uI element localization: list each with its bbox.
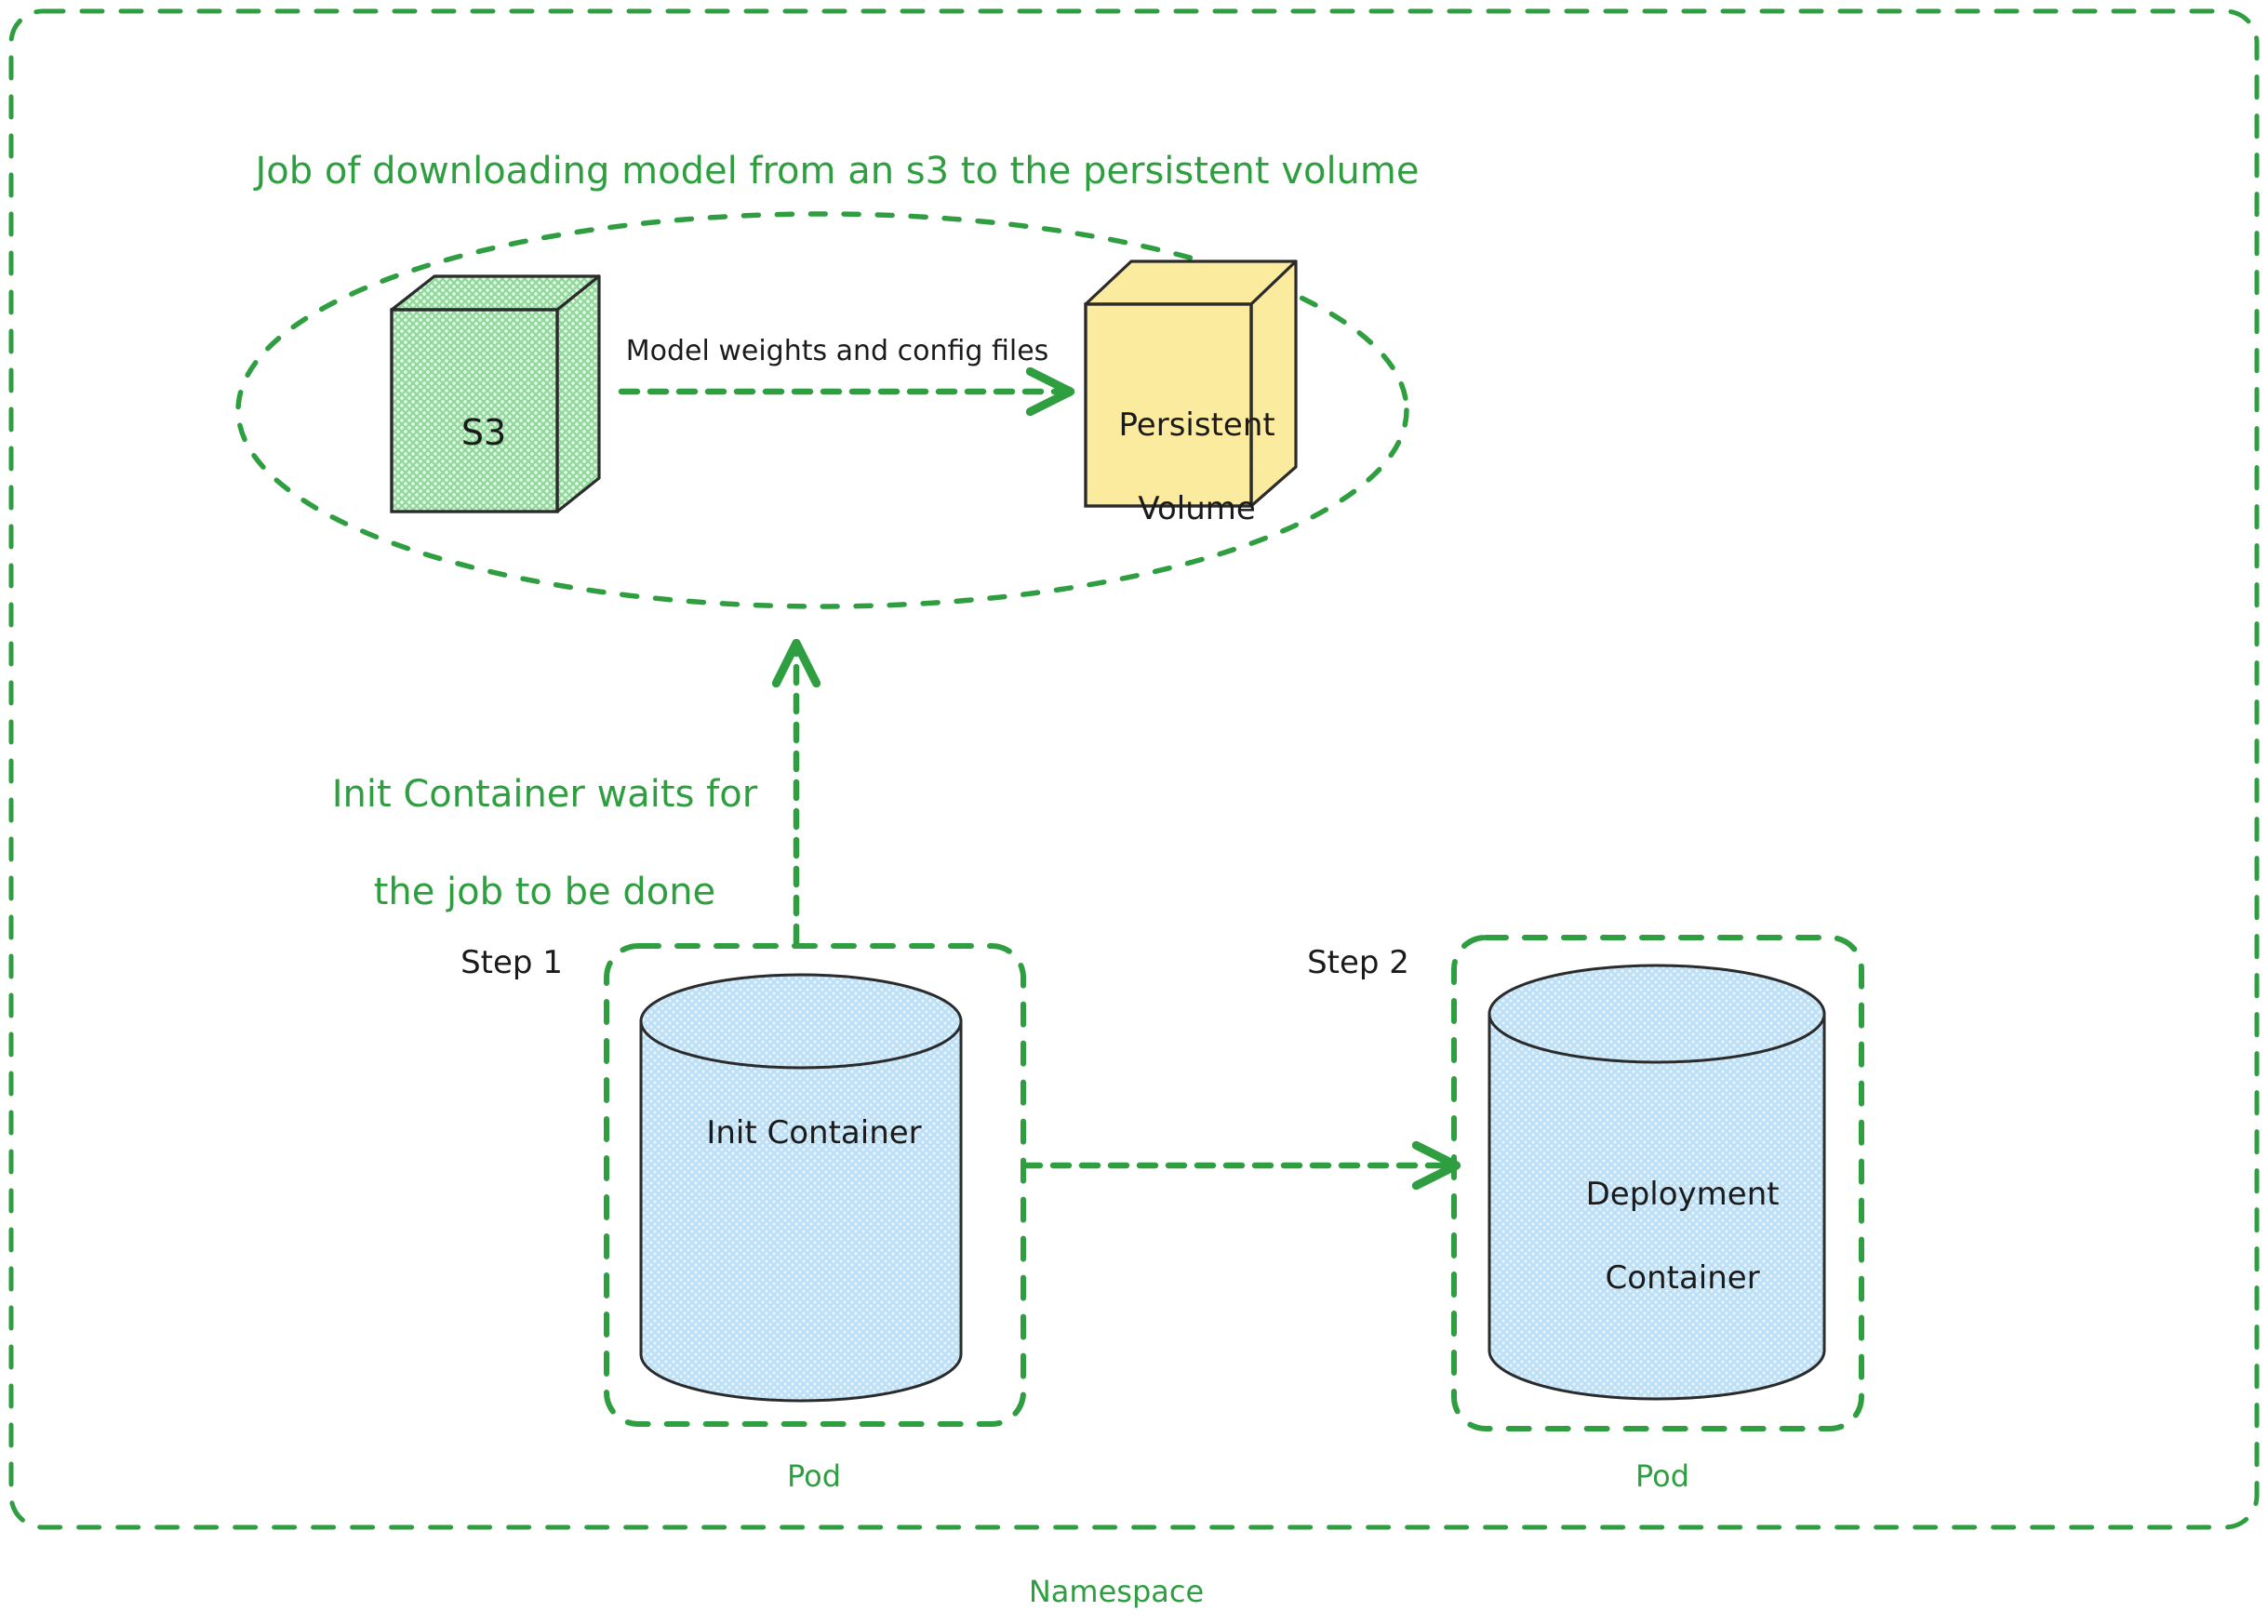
diagram-vector-layer [0, 0, 2268, 1624]
s3-cube [392, 276, 599, 512]
deployment-container-cylinder [1489, 965, 1824, 1399]
persistent-volume-cube [1086, 261, 1296, 506]
namespace-boundary [11, 11, 2257, 1527]
init-container-cylinder [641, 975, 961, 1401]
diagram-canvas: Job of downloading model from an s3 to t… [0, 0, 2268, 1624]
